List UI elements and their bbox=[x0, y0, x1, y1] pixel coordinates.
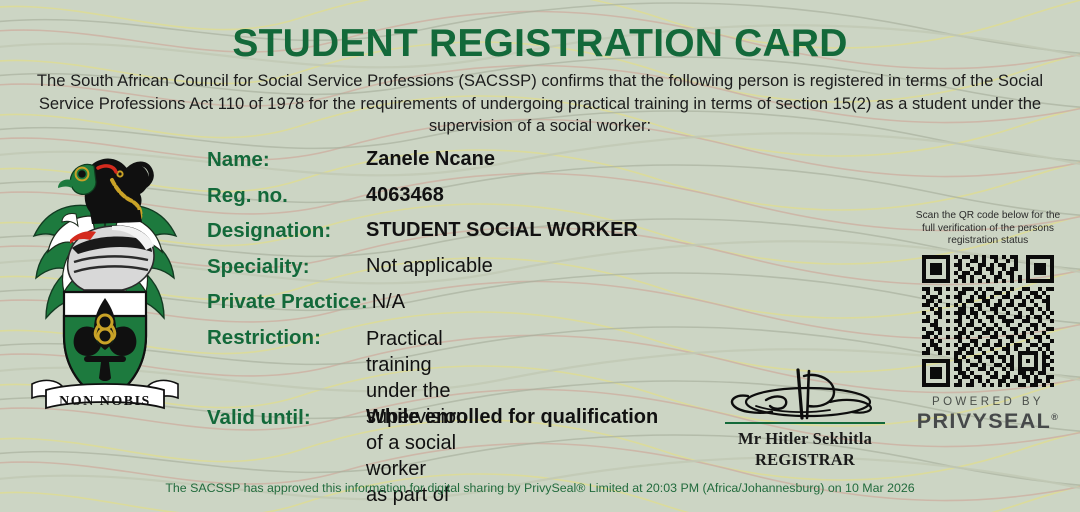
field-label-reg-no: Reg. no. bbox=[207, 184, 288, 208]
field-label-designation: Designation: bbox=[207, 219, 331, 243]
signature-block: Mr Hitler Sekhitla REGISTRAR bbox=[712, 368, 898, 470]
registrar-role: REGISTRAR bbox=[712, 449, 898, 470]
footer-approval-note: The SACSSP has approved this information… bbox=[0, 481, 1080, 495]
registrar-name: Mr Hitler Sekhitla bbox=[712, 428, 898, 449]
qr-caption: Scan the QR code below for the full veri… bbox=[908, 210, 1068, 248]
verification-qr-code[interactable] bbox=[922, 255, 1054, 387]
registered-trademark-icon: ® bbox=[1051, 412, 1059, 422]
field-label-restriction: Restriction: bbox=[207, 326, 321, 350]
handwritten-signature-icon bbox=[712, 368, 898, 422]
qr-verification-panel: Scan the QR code below for the full veri… bbox=[900, 210, 1076, 434]
field-row-private-practice: Private Practice:N/A bbox=[207, 290, 405, 316]
field-value-speciality: Not applicable bbox=[366, 255, 493, 278]
field-label-speciality: Speciality: bbox=[207, 255, 310, 279]
signature-line bbox=[725, 422, 885, 424]
field-value-designation: STUDENT SOCIAL WORKER bbox=[366, 219, 638, 242]
field-value-private-practice: N/A bbox=[372, 291, 405, 313]
field-label-valid-until: Valid until: bbox=[207, 406, 311, 430]
privyseal-brand-text: PRIVYSEAL bbox=[917, 409, 1051, 433]
field-value-valid-until: While enrolled for qualification bbox=[366, 406, 658, 429]
field-value-reg-no: 4063468 bbox=[366, 184, 444, 207]
student-registration-card: STUDENT REGISTRATION CARD The South Afri… bbox=[0, 0, 1080, 512]
field-value-name: Zanele Ncane bbox=[366, 148, 495, 171]
powered-by-label: POWERED BY bbox=[900, 396, 1076, 408]
privyseal-brand: PRIVYSEAL® bbox=[900, 409, 1076, 434]
field-label-private-practice: Private Practice: bbox=[207, 290, 368, 313]
field-label-name: Name: bbox=[207, 148, 270, 172]
